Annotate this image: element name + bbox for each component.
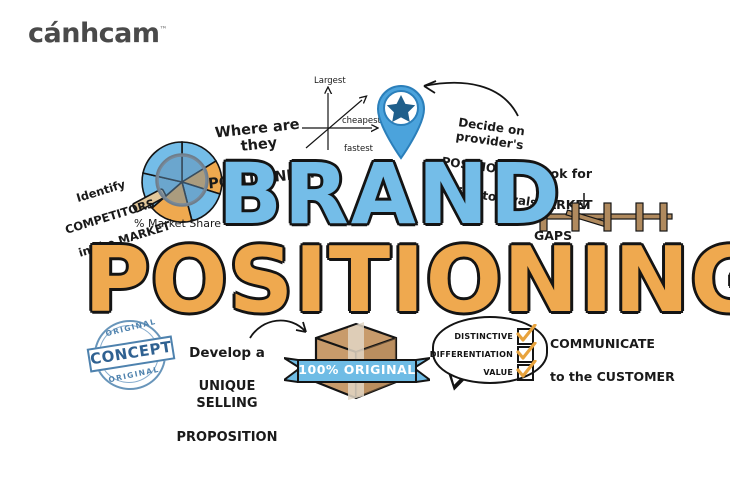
checkmark-icon [516, 342, 538, 362]
callout-unique-selling-proposition: Develop a UNIQUE SELLING PROPOSITION [168, 328, 286, 464]
brand-logo: cánhcam™ [28, 18, 167, 49]
axis-label-largest: Largest [314, 76, 346, 86]
product-banner: 100% ORIGINAL [284, 356, 430, 386]
headline-brand: BRAND [218, 152, 562, 236]
checkmark-icon [516, 360, 538, 380]
banner-label: 100% ORIGINAL [284, 362, 430, 377]
checkbox-value[interactable] [517, 364, 534, 381]
checklist-label-distinctive: DISTINCTIVE [454, 332, 513, 341]
headline-positioning: POSITIONING [84, 236, 730, 326]
checklist-item-value[interactable]: VALUE [440, 364, 534, 381]
callout-communicate-line1: COMMUNICATE [550, 336, 675, 352]
callout-usp-line3: PROPOSITION [168, 430, 286, 447]
callout-usp-line2: UNIQUE SELLING [168, 379, 286, 413]
trademark-symbol: ™ [160, 25, 168, 34]
callout-communicate: COMMUNICATE to the CUSTOMER [550, 320, 675, 401]
callout-identify-line1: Identify [56, 158, 194, 212]
checklist-speech-bubble: DISTINCTIVE DIFFERENTIATION VALUE [432, 316, 548, 392]
checkmark-icon [516, 324, 538, 344]
checklist-label-differentiation: DIFFERENTIATION [430, 350, 513, 359]
callout-communicate-line2: to the CUSTOMER [550, 369, 675, 385]
logo-text: cánhcam [28, 18, 160, 49]
infographic-canvas: cánhcam™ % Market Share Identify COMPETI… [0, 0, 730, 499]
original-concept-stamp: ORIGINAL ORIGINAL CONCEPT [88, 316, 172, 392]
checklist-label-value: VALUE [483, 368, 513, 377]
